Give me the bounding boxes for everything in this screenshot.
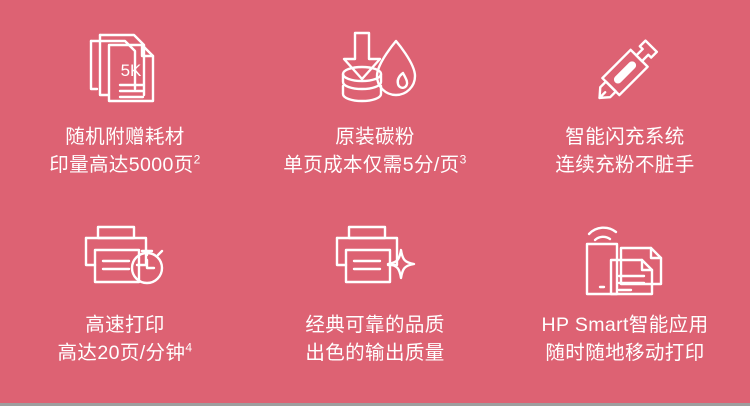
svg-text:5K: 5K bbox=[121, 61, 142, 80]
caption-line-1: 高速打印 bbox=[58, 312, 193, 340]
feature-tile-hp-smart-app: HP Smart智能应用 随时随地移动打印 bbox=[500, 196, 750, 392]
feature-tile-toner-cost: 原装碳粉 单页成本仅需5分/页3 bbox=[250, 0, 500, 196]
phone-wireless-print-icon bbox=[581, 218, 669, 298]
feature-caption: 智能闪充系统 连续充粉不脏手 bbox=[555, 124, 694, 179]
printer-sparkle-icon bbox=[331, 218, 419, 298]
footnote-marker: 4 bbox=[185, 340, 192, 354]
feature-tile-print-quality: 经典可靠的品质 出色的输出质量 bbox=[250, 196, 500, 392]
feature-caption: 原装碳粉 单页成本仅需5分/页3 bbox=[283, 124, 466, 179]
feature-tile-smart-refill: 智能闪充系统 连续充粉不脏手 bbox=[500, 0, 750, 196]
feature-tile-fast-print: 高速打印 高达20页/分钟4 bbox=[0, 196, 250, 392]
printer-stopwatch-icon bbox=[80, 218, 170, 298]
caption-line-2: 出色的输出质量 bbox=[305, 340, 444, 368]
feature-caption: 随机附赠耗材 印量高达5000页2 bbox=[49, 124, 201, 179]
caption-line-1: 智能闪充系统 bbox=[555, 124, 694, 152]
caption-line-2: 连续充粉不脏手 bbox=[555, 152, 694, 180]
toner-drop-coins-icon bbox=[333, 28, 417, 114]
caption-line-2: 高达20页/分钟4 bbox=[58, 340, 193, 368]
footnote-marker: 3 bbox=[460, 152, 467, 166]
caption-line-1: 原装碳粉 bbox=[283, 124, 466, 152]
page-stack-5k-icon: 5K bbox=[87, 28, 163, 114]
caption-line-1: 经典可靠的品质 bbox=[305, 312, 444, 340]
caption-line-1: HP Smart智能应用 bbox=[542, 312, 709, 340]
caption-line-1: 随机附赠耗材 bbox=[49, 124, 201, 152]
caption-line-2: 随时随地移动打印 bbox=[542, 340, 709, 368]
hp-printer-feature-banner: 5K 随机附赠耗材 印量高达5000页2 原装碳粉 bbox=[0, 0, 750, 406]
syringe-refill-icon bbox=[584, 28, 666, 114]
feature-caption: HP Smart智能应用 随时随地移动打印 bbox=[542, 312, 709, 367]
feature-grid: 5K 随机附赠耗材 印量高达5000页2 原装碳粉 bbox=[0, 0, 750, 398]
feature-tile-supplies: 5K 随机附赠耗材 印量高达5000页2 bbox=[0, 0, 250, 196]
caption-line-2: 单页成本仅需5分/页3 bbox=[283, 152, 466, 180]
feature-caption: 高速打印 高达20页/分钟4 bbox=[58, 312, 193, 367]
caption-line-2: 印量高达5000页2 bbox=[49, 152, 201, 180]
footnote-marker: 2 bbox=[194, 152, 201, 166]
feature-caption: 经典可靠的品质 出色的输出质量 bbox=[305, 312, 444, 367]
